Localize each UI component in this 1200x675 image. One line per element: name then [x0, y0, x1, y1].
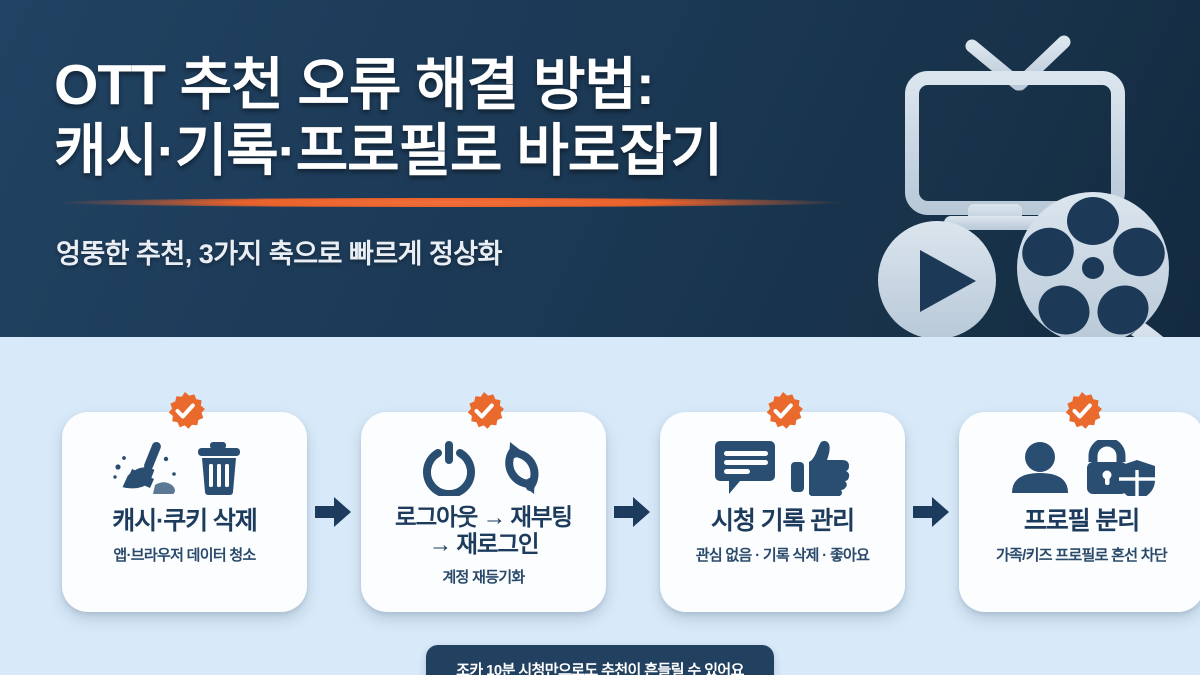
shield-icon — [1119, 460, 1155, 496]
step-subtitle: 관심 없음 · 기록 삭제 · 좋아요 — [696, 544, 870, 565]
title-line-2: 캐시·기록·프로필로 바로잡기 — [54, 118, 894, 184]
check-badge-icon — [165, 391, 205, 431]
step-card-history[interactable]: 시청 기록 관리 관심 없음 · 기록 삭제 · 좋아요 — [660, 412, 905, 612]
steps-flow: 캐시·쿠키 삭제 앱·브라우저 데이터 청소 — [62, 412, 1146, 612]
check-badge-icon — [1062, 391, 1102, 431]
arrow-right-icon — [315, 495, 353, 529]
title-underline-swoosh — [56, 198, 846, 207]
step-card-cache[interactable]: 캐시·쿠키 삭제 앱·브라우저 데이터 청소 — [62, 412, 307, 612]
footer-note: 조카 10분 시청만으로도 추천이 흔들릴 수 있어요 — [426, 645, 774, 675]
power-icon — [427, 441, 471, 494]
check-badge-icon — [464, 391, 504, 431]
header-artwork-svg — [840, 18, 1200, 337]
header-banner: OTT 추천 오류 해결 방법: 캐시·기록·프로필로 바로잡기 엉뚱한 추천,… — [0, 0, 1200, 337]
title-line-1: OTT 추천 오류 해결 방법: — [54, 52, 894, 118]
check-badge-icon — [763, 391, 803, 431]
step-subtitle: 앱·브라우저 데이터 청소 — [113, 544, 255, 565]
steps-section: 캐시·쿠키 삭제 앱·브라우저 데이터 청소 — [0, 337, 1200, 675]
step-title: 캐시·쿠키 삭제 — [106, 507, 262, 536]
step-title-cont: → 재로그인 — [423, 531, 545, 558]
header-artwork — [840, 18, 1200, 337]
step-card-profile[interactable]: 프로필 분리 가족/키즈 프로필로 혼선 차단 — [959, 412, 1200, 612]
thumbs-up-icon — [791, 441, 849, 496]
step-card-relogin[interactable]: 로그아웃 → 재부팅 → 재로그인 계정 재등기화 — [361, 412, 606, 612]
speech-bubble-icon — [715, 441, 775, 494]
step-title: 시청 기록 관리 — [705, 507, 860, 536]
trash-can-icon — [198, 442, 240, 495]
step-title: 프로필 분리 — [1018, 507, 1145, 536]
broom-icon — [113, 441, 176, 494]
step-icons — [110, 438, 260, 498]
page-title: OTT 추천 오류 해결 방법: 캐시·기록·프로필로 바로잡기 — [54, 52, 894, 184]
step-title: 로그아웃 → 재부팅 — [389, 504, 578, 531]
step-icons — [713, 438, 853, 498]
page-subtitle: 엉뚱한 추천, 3가지 축으로 빠르게 정상화 — [56, 232, 502, 271]
step-icons — [414, 438, 554, 498]
step-subtitle: 계정 재등기화 — [442, 566, 524, 587]
film-reel-icon — [1015, 192, 1191, 337]
step-subtitle: 가족/키즈 프로필로 혼선 차단 — [996, 544, 1167, 565]
step-icons — [1007, 438, 1157, 498]
footer-note-text: 조카 10분 시청만으로도 추천이 흔들릴 수 있어요 — [456, 659, 744, 675]
arrow-right-icon — [913, 495, 951, 529]
play-circle-icon — [878, 221, 996, 337]
arrow-right-icon — [614, 495, 652, 529]
person-icon — [1012, 442, 1068, 493]
